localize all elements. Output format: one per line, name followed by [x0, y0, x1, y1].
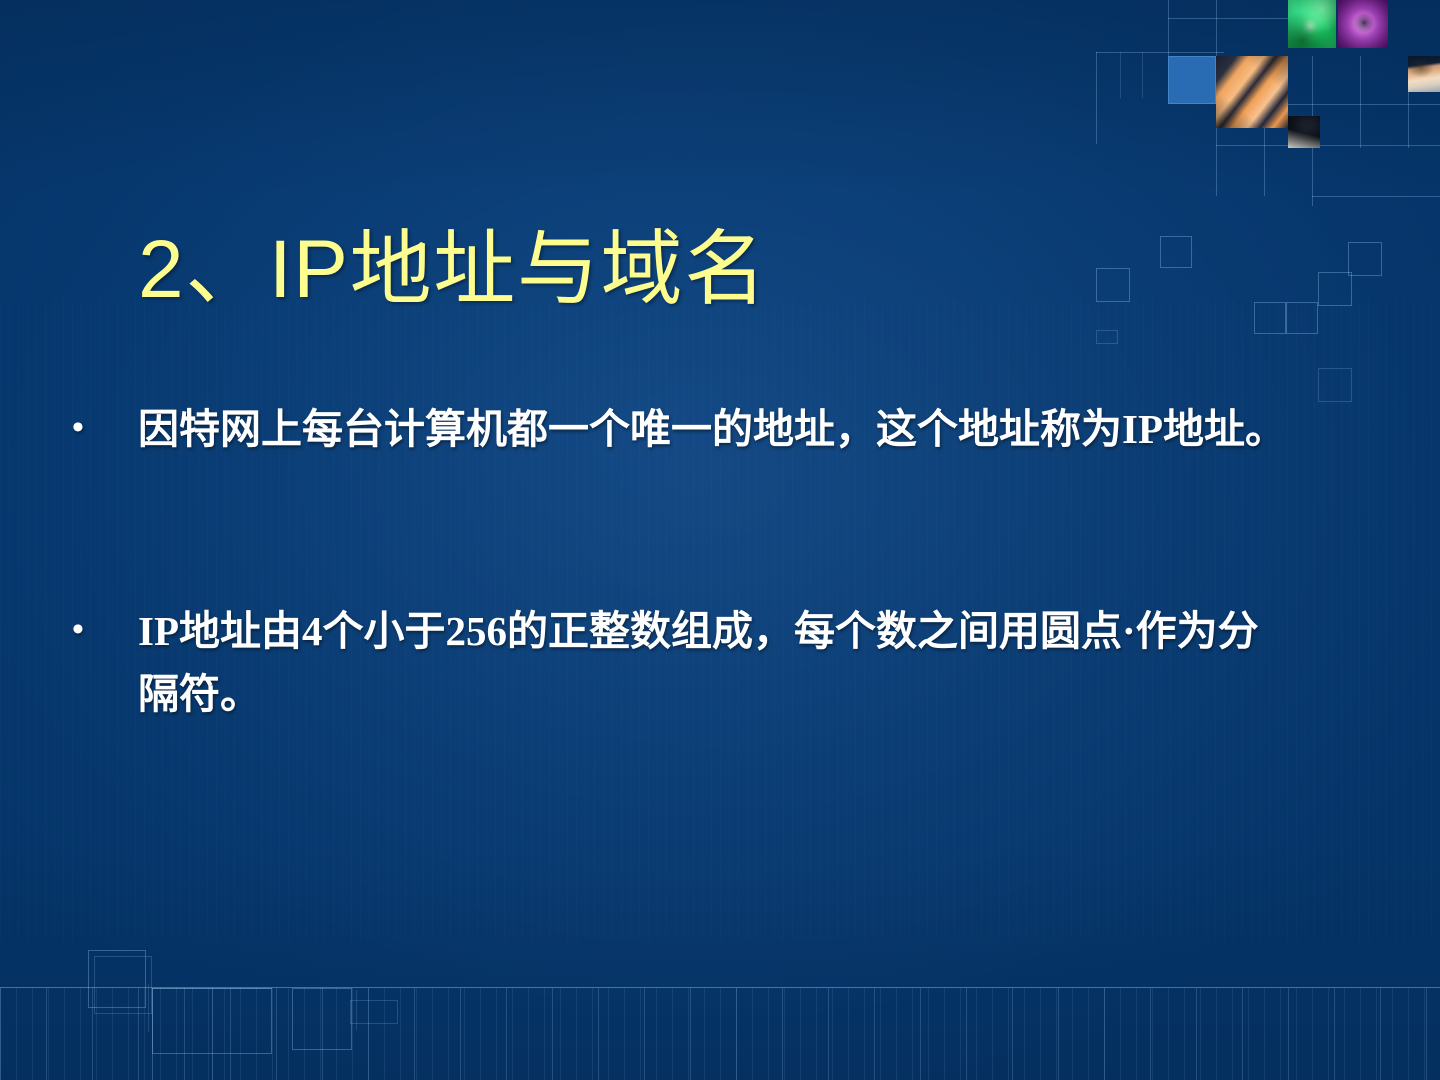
decor-line-tr-14 [1264, 104, 1440, 105]
slide-title: 2、IP地址与域名 [138, 227, 768, 314]
decor-accent-square [1168, 56, 1216, 104]
decor-line-tr-4 [1142, 52, 1143, 98]
decor-square-mr-2 [1160, 236, 1192, 268]
decor-square-mr-4 [1286, 302, 1318, 334]
slide-body: • 因特网上每台计算机都一个唯一的地址，这个地址称为IP地址。 • IP地址由4… [62, 398, 1402, 725]
decor-line-tr-15 [1312, 196, 1440, 197]
bullet-marker-icon: • [62, 600, 138, 661]
decor-square-mr-8 [1096, 330, 1118, 344]
decor-square-mr-3 [1254, 302, 1286, 334]
decor-square-mr-1 [1096, 268, 1130, 302]
orange-hands-keyboard-thumbnail [1216, 56, 1288, 128]
decor-line-tr-3 [1120, 52, 1121, 98]
decor-line-tr-8 [1216, 145, 1440, 146]
decor-line-tr-2 [1096, 52, 1097, 144]
purple-burst-thumbnail [1338, 0, 1388, 48]
decor-square-bl-3 [292, 988, 352, 1050]
bullet-item: • 因特网上每台计算机都一个唯一的地址，这个地址称为IP地址。 [62, 398, 1402, 460]
decor-line-tr-1 [1096, 52, 1224, 53]
decor-line-tr-7 [1216, 0, 1217, 56]
hand-pointing-thumbnail [1408, 56, 1440, 92]
bullet-marker-icon: • [62, 398, 138, 459]
decor-square-mr-7 [1318, 368, 1352, 402]
decor-line-tr-5 [1168, 0, 1169, 56]
presentation-slide: 2、IP地址与域名 • 因特网上每台计算机都一个唯一的地址，这个地址称为IP地址… [0, 0, 1440, 1080]
bullet-text: IP地址由4个小于256的正整数组成，每个数之间用圆点·作为分隔符。 [138, 600, 1273, 725]
decor-line-bl-4 [148, 984, 149, 1032]
decor-line-tr-6 [1168, 18, 1296, 19]
green-eye-thumbnail [1288, 0, 1336, 48]
mouse-device-thumbnail [1288, 116, 1320, 148]
decor-square-mr-5 [1318, 272, 1352, 306]
decor-square-mr-6 [1348, 242, 1382, 276]
bullet-item: • IP地址由4个小于256的正整数组成，每个数之间用圆点·作为分隔符。 [62, 600, 1402, 725]
decor-square-bl-1-shadow [94, 956, 152, 1014]
bullet-text: 因特网上每台计算机都一个唯一的地址，这个地址称为IP地址。 [138, 398, 1393, 460]
decor-line-bl-3 [212, 988, 213, 1080]
decor-square-bl-4 [350, 1000, 398, 1024]
decor-line-tr-12 [1360, 56, 1361, 148]
